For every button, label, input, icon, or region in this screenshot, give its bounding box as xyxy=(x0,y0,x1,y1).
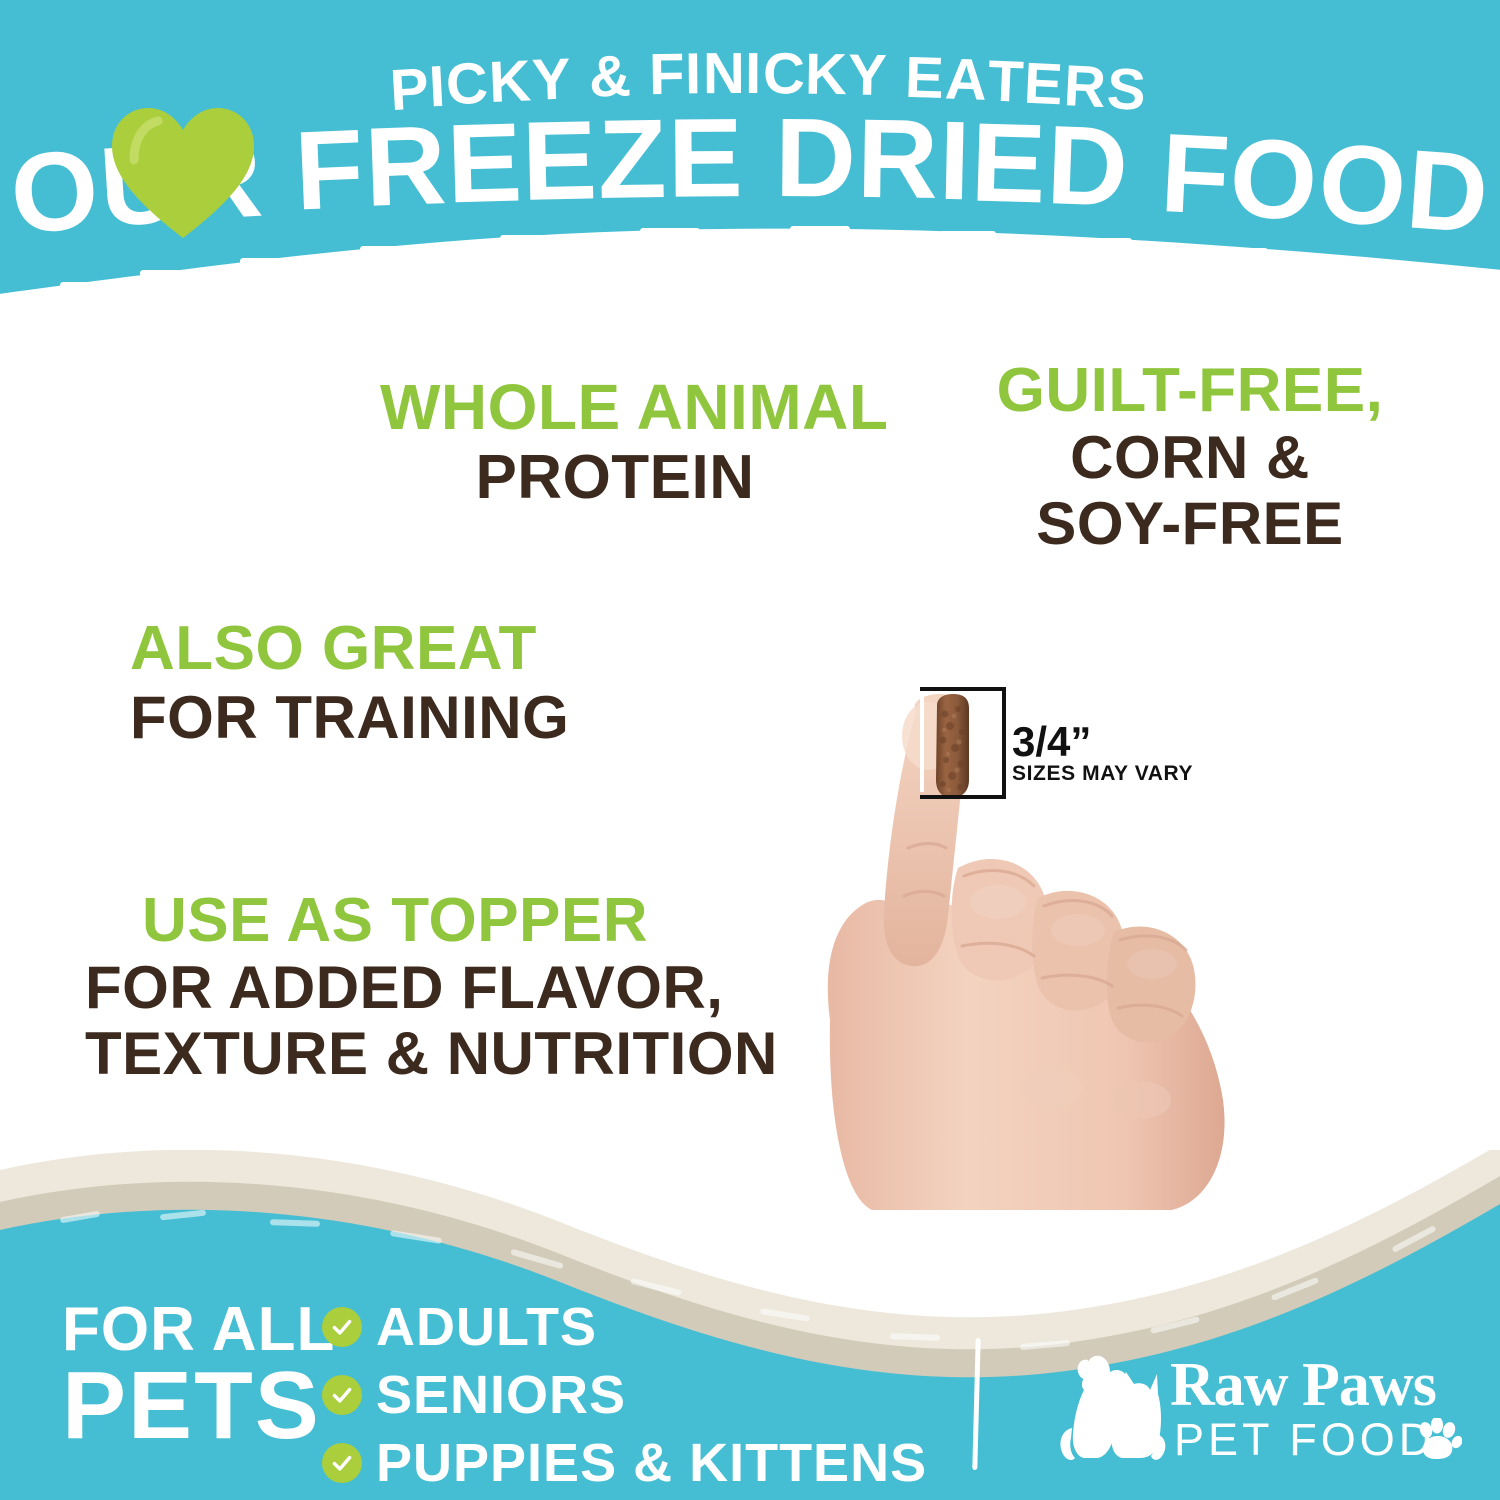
feature-green-line: USE AS TOPPER xyxy=(85,890,705,952)
size-measure-bracket xyxy=(920,686,1010,800)
feature-brown-line: FOR ADDED FLAVOR, xyxy=(85,958,705,1018)
header-banner: PICKY & FINICKY EATERS OUR FREEZE DRIED … xyxy=(0,0,1500,300)
paw-print-icon xyxy=(1416,1418,1462,1462)
feature-brown-line: CORN & xyxy=(990,428,1390,488)
feature-use-as-topper: USE AS TOPPER FOR ADDED FLAVOR, TEXTURE … xyxy=(85,890,705,1084)
pet-type-label: ADULTS xyxy=(376,1296,597,1358)
logo-wordmark: Raw Paws xyxy=(1170,1350,1436,1421)
list-item: ADULTS xyxy=(322,1296,927,1358)
feature-brown-line: TEXTURE & NUTRITION xyxy=(85,1024,705,1084)
feature-green-line: WHOLE ANIMAL xyxy=(380,375,850,439)
header-brush-divider xyxy=(0,206,1500,300)
dog-cat-silhouette-icon xyxy=(1058,1350,1166,1468)
list-item: PUPPIES & KITTENS xyxy=(322,1432,927,1494)
pet-type-label: PUPPIES & KITTENS xyxy=(376,1432,927,1494)
infographic-page: PICKY & FINICKY EATERS OUR FREEZE DRIED … xyxy=(0,0,1500,1500)
check-icon xyxy=(322,1375,362,1415)
check-icon xyxy=(322,1307,362,1347)
feature-guilt-free: GUILT-FREE, CORN & SOY-FREE xyxy=(990,360,1390,554)
feature-brown-line: SOY-FREE xyxy=(990,494,1390,554)
pet-type-label: SENIORS xyxy=(376,1364,626,1426)
for-all-line2: PETS xyxy=(62,1360,335,1452)
feature-green-line: GUILT-FREE, xyxy=(990,360,1390,422)
size-note: SIZES MAY VARY xyxy=(1012,762,1193,786)
for-all-pets-label: FOR ALL PETS xyxy=(62,1300,335,1452)
feature-whole-animal-protein: WHOLE ANIMAL PROTEIN xyxy=(380,375,850,509)
feature-also-great-for-training: ALSO GREAT FOR TRAINING xyxy=(130,618,650,748)
list-item: SENIORS xyxy=(322,1364,927,1426)
feature-brown-line: PROTEIN xyxy=(380,447,850,509)
size-value: 3/4” xyxy=(1012,718,1091,766)
check-icon xyxy=(322,1443,362,1483)
feature-brown-line: FOR TRAINING xyxy=(130,688,650,748)
pet-types-list: ADULTS SENIORS PUPPIES & KITTENS xyxy=(322,1296,927,1500)
logo-tagline: PET FOOD xyxy=(1174,1414,1435,1466)
brand-logo: Raw Paws ® PET FOOD xyxy=(1058,1348,1466,1476)
feature-green-line: ALSO GREAT xyxy=(130,618,650,680)
